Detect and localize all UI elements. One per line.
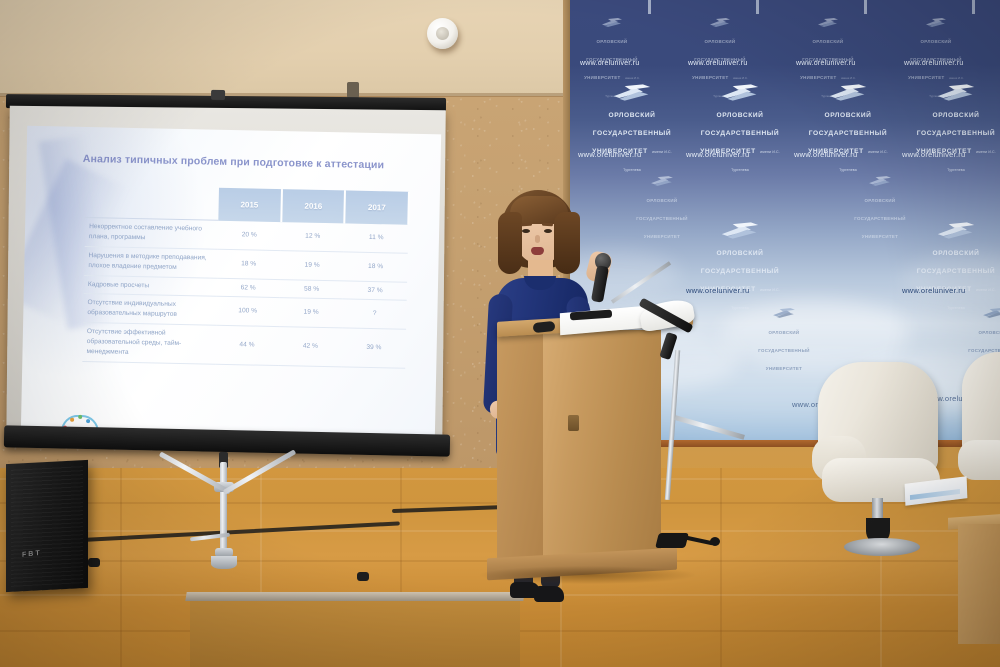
wing-emblem-icon: [650, 176, 674, 186]
backdrop-logo: ОРЛОВСКИЙ ГОСУДАРСТВЕННЫЙ УНИВЕРСИТЕТ им…: [698, 222, 782, 314]
pa-speaker: FBT: [6, 460, 88, 592]
backdrop-logo-line3: УНИВЕРСИТЕТ: [908, 75, 944, 80]
wing-emblem-icon: [982, 308, 1000, 318]
hair-side-right: [554, 212, 580, 274]
backdrop-logo-line2: ГОСУДАРСТВЕННЫЙ: [636, 216, 687, 221]
backdrop-website: www.oreluniver.ru: [578, 150, 641, 159]
row-value-2016: 19 %: [279, 298, 343, 328]
backdrop-logo-line3: УНИВЕРСИТЕТ: [584, 75, 620, 80]
backdrop-website: www.oreluniver.ru: [580, 60, 640, 67]
row-value-2015: 100 %: [216, 297, 280, 327]
ceiling-detector-icon: [427, 18, 458, 49]
row-value-2015: 20 %: [217, 220, 281, 250]
backdrop-logo-line3: УНИВЕРСИТЕТ: [800, 75, 836, 80]
wing-emblem-icon: [612, 84, 652, 101]
backdrop-logo-line1: ОРЛОВСКИЙ: [813, 39, 844, 44]
backdrop-logo-line1: ОРЛОВСКИЙ: [647, 198, 678, 203]
backdrop-logo-line2: ГОСУДАРСТВЕННЫЙ: [701, 130, 779, 137]
wing-emblem-icon: [817, 18, 839, 27]
tripod-foot: [357, 572, 369, 581]
wing-emblem-icon: [720, 222, 760, 239]
backdrop-logo: ОРЛОВСКИЙ ГОСУДАРСТВЕННЫЙ УНИВЕРСИТЕТ им…: [914, 222, 998, 314]
presentation-slide: Анализ типичных проблем при подготовке к…: [21, 126, 442, 455]
backdrop-logo-line2: ГОСУДАРСТВЕННЫЙ: [809, 130, 887, 137]
stage-step: [190, 596, 520, 667]
backdrop-logo-line2: ГОСУДАРСТВЕННЫЙ: [593, 130, 671, 137]
backdrop-website: www.oreluniver.ru: [686, 150, 749, 159]
backdrop-website: www.oreluniver.ru: [686, 286, 749, 295]
backdrop-website: www.oreluniver.ru: [794, 150, 857, 159]
nose: [535, 235, 540, 243]
wing-emblem-icon: [601, 18, 623, 27]
row-value-2017: ?: [343, 299, 407, 329]
row-value-2016: 19 %: [280, 250, 344, 280]
tripod-center-post: [220, 462, 227, 562]
tripod-base-cone: [211, 556, 237, 569]
backdrop-logo-line1: ОРЛОВСКИЙ: [921, 39, 952, 44]
boom-base-foot: [710, 537, 720, 546]
row-value-2015: 44 %: [215, 325, 279, 365]
backdrop-logo-line1: ОРЛОВСКИЙ: [716, 250, 763, 257]
lectern-shadow: [480, 566, 695, 584]
backdrop-logo-line3: УНИВЕРСИТЕТ: [692, 75, 728, 80]
tripod-foot: [88, 558, 100, 567]
backdrop-logo-line2: ГОСУДАРСТВЕННЫЙ: [701, 268, 779, 275]
backdrop-logo-line1: ОРЛОВСКИЙ: [932, 112, 979, 119]
mouth: [531, 247, 544, 255]
lectern-body: [543, 330, 661, 570]
backdrop-logo: ОРЛОВСКИЙ ГОСУДАРСТВЕННЫЙ УНИВЕРСИТЕТ им…: [698, 84, 782, 176]
row-value-2016: 42 %: [278, 327, 342, 367]
backdrop-website: www.oreluniver.ru: [902, 286, 965, 295]
screen-bracket: [347, 82, 359, 98]
row-value-2016: 58 %: [280, 279, 344, 299]
presentation-photo-scene: ОРЛОВСКИЙ ГОСУДАРСТВЕННЫЙ УНИВЕРСИТЕТ им…: [0, 0, 1000, 667]
shoe-right: [534, 586, 564, 602]
backdrop-logo: ОРЛОВСКИЙ ГОСУДАРСТВЕННЫЙ УНИВЕРСИТЕТ им…: [914, 84, 998, 176]
backdrop-logo: ОРЛОВСКИЙ ГОСУДАРСТВЕННЫЙ УНИВЕРСИТЕТ им…: [590, 84, 674, 176]
speaker-grille: [11, 465, 83, 587]
backdrop-logo-line3: УНИВЕРСИТЕТ: [862, 234, 898, 239]
row-label: Некорректное составление учебного плана,…: [85, 217, 218, 249]
backdrop-logo-line1: ОРЛОВСКИЙ: [597, 39, 628, 44]
side-table: [958, 524, 1000, 644]
row-label: Отсутствие эффективной образовательной с…: [82, 323, 215, 364]
backdrop-logo-line1: ОРЛОВСКИЙ: [608, 112, 655, 119]
backdrop-logo-line1: ОРЛОВСКИЙ: [716, 112, 763, 119]
row-label: Нарушения в методике преподавания, плохо…: [84, 246, 217, 278]
backdrop-logo: ОРЛОВСКИЙ ГОСУДАРСТВЕННЫЙ УНИВЕРСИТЕТ: [634, 176, 690, 243]
wing-emblem-icon: [709, 18, 731, 27]
chair-seat: [958, 440, 1000, 480]
backdrop-logo-line2: ГОСУДАРСТВЕННЫЙ: [917, 268, 995, 275]
screen-border: Анализ типичных проблем при подготовке к…: [6, 106, 446, 449]
backdrop-logo-line3: УНИВЕРСИТЕТ: [766, 366, 802, 371]
backdrop-logo-line1: ОРЛОВСКИЙ: [705, 39, 736, 44]
table-row: Отсутствие эффективной образовательной с…: [82, 323, 406, 368]
backdrop-website: www.oreluniver.ru: [904, 60, 964, 67]
backdrop-logo-line1: ОРЛОВСКИЙ: [932, 250, 979, 257]
column-header-2016: 2016: [281, 189, 345, 223]
backdrop-website: www.oreluniver.ru: [796, 60, 856, 67]
stage-step-edge: [185, 592, 524, 601]
wing-emblem-icon: [828, 84, 868, 101]
backdrop-logo: ОРЛОВСКИЙ ГОСУДАРСТВЕННЫЙ УНИВЕРСИТЕТ им…: [806, 84, 890, 176]
backdrop-logo-line2: ГОСУДАРСТВЕННЫЙ: [917, 130, 995, 137]
wing-emblem-icon: [925, 18, 947, 27]
column-header-2015: 2015: [218, 188, 282, 222]
slide-data-table: 2015 2016 2017 Некорректное составление …: [82, 185, 410, 369]
backdrop-logo-line1: ОРЛОВСКИЙ: [865, 198, 896, 203]
backdrop-logo: ОРЛОВСКИЙ ГОСУДАРСТВЕННЫЙ УНИВЕРСИТЕТ: [852, 176, 908, 243]
row-value-2017: 11 %: [344, 223, 408, 253]
hair-side-left: [498, 212, 522, 274]
column-header-2017: 2017: [345, 190, 409, 224]
row-value-2015: 18 %: [217, 249, 281, 279]
backdrop-logo-line2: ГОСУДАРСТВЕННЫЙ: [854, 216, 905, 221]
backdrop-logo-line1: ОРЛОВСКИЙ: [824, 112, 871, 119]
row-value-2017: 39 %: [342, 328, 406, 368]
backdrop-logo-line3: УНИВЕРСИТЕТ: [644, 234, 680, 239]
backdrop-logo: ОРЛОВСКИЙ ГОСУДАРСТВЕННЫЙ УНИВЕРСИТЕТ: [756, 308, 812, 375]
screen-hook: [211, 90, 225, 100]
row-value-2016: 12 %: [281, 222, 345, 252]
eye-right: [544, 229, 552, 233]
wing-emblem-icon: [720, 84, 760, 101]
row-value-2015: 62 %: [216, 278, 280, 298]
projection-screen: Анализ типичных проблем при подготовке к…: [2, 96, 450, 456]
wall-upper: [0, 0, 570, 96]
wing-emblem-icon: [772, 308, 796, 318]
backdrop-website: www.oreluniver.ru: [902, 150, 965, 159]
backdrop-logo-line1: ОРЛОВСКИЙ: [979, 330, 1000, 335]
wing-emblem-icon: [936, 222, 976, 239]
lectern-side-panel: [497, 324, 545, 567]
wing-emblem-icon: [936, 84, 976, 101]
wing-emblem-icon: [868, 176, 892, 186]
eye-left: [522, 229, 530, 233]
row-label: Отсутствие индивидуальных образовательны…: [83, 294, 216, 326]
lectern-handle: [568, 415, 579, 431]
backdrop-logo-line2: ГОСУДАРСТВЕННЫЙ: [758, 348, 809, 353]
row-value-2017: 18 %: [344, 252, 408, 282]
table-corner-header: [85, 185, 218, 220]
chair-base: [844, 538, 920, 556]
row-value-2017: 37 %: [343, 280, 407, 300]
backdrop-website: www.oreluniver.ru: [688, 60, 748, 67]
backdrop-logo-line1: ОРЛОВСКИЙ: [769, 330, 800, 335]
